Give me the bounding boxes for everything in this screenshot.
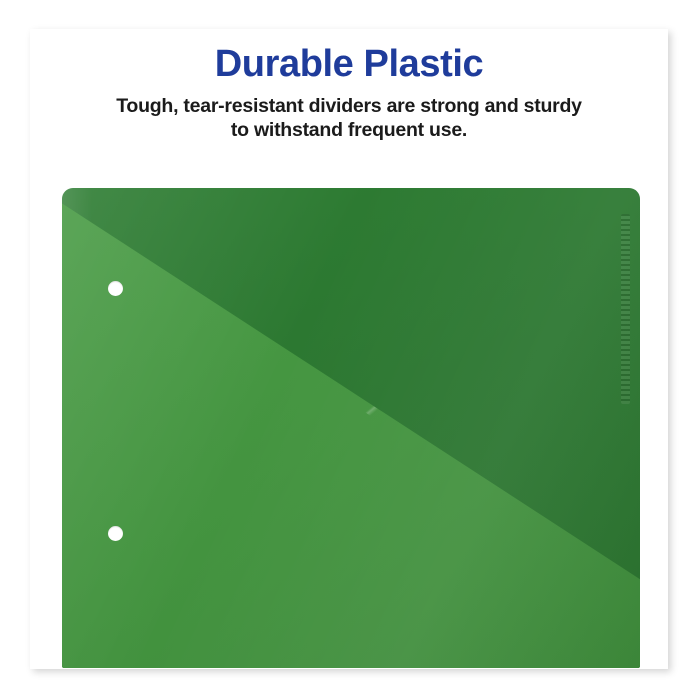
reinforced-edge-strip <box>621 214 630 404</box>
product-card: Durable Plastic Tough, tear-resistant di… <box>30 29 668 669</box>
diagonal-pocket-flap <box>62 188 640 668</box>
product-image-canvas: Durable Plastic Tough, tear-resistant di… <box>0 0 700 700</box>
divider-sheet <box>62 188 640 668</box>
punch-hole-top <box>108 281 123 296</box>
product-photo <box>30 29 668 669</box>
punch-hole-bottom <box>108 526 123 541</box>
